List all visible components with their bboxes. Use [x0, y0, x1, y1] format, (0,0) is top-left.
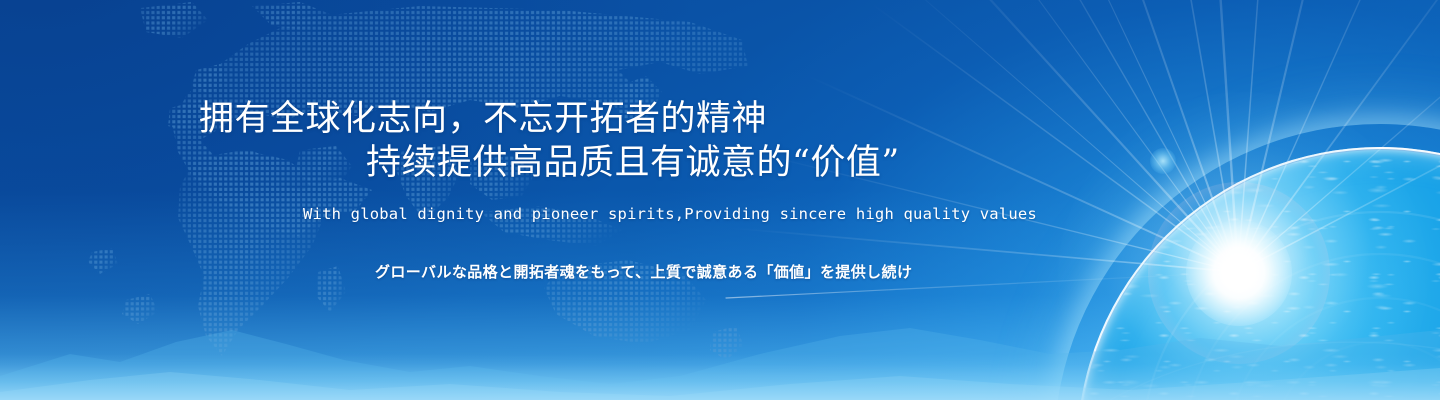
banner-copy-block: 拥有全球化志向，不忘开拓者的精神 持续提供高品质且有诚意的“价值” With g…	[0, 0, 1440, 400]
subline-english: With global dignity and pioneer spirits,…	[303, 205, 1037, 223]
headline-line-2: 持续提供高品质且有诚意的“价值”	[366, 134, 900, 185]
hero-banner: 拥有全球化志向，不忘开拓者的精神 持续提供高品质且有诚意的“价值” With g…	[0, 0, 1440, 400]
subline-japanese: グローバルな品格と開拓者魂をもって、上質で誠意ある「価値」を提供し続け	[375, 261, 912, 282]
